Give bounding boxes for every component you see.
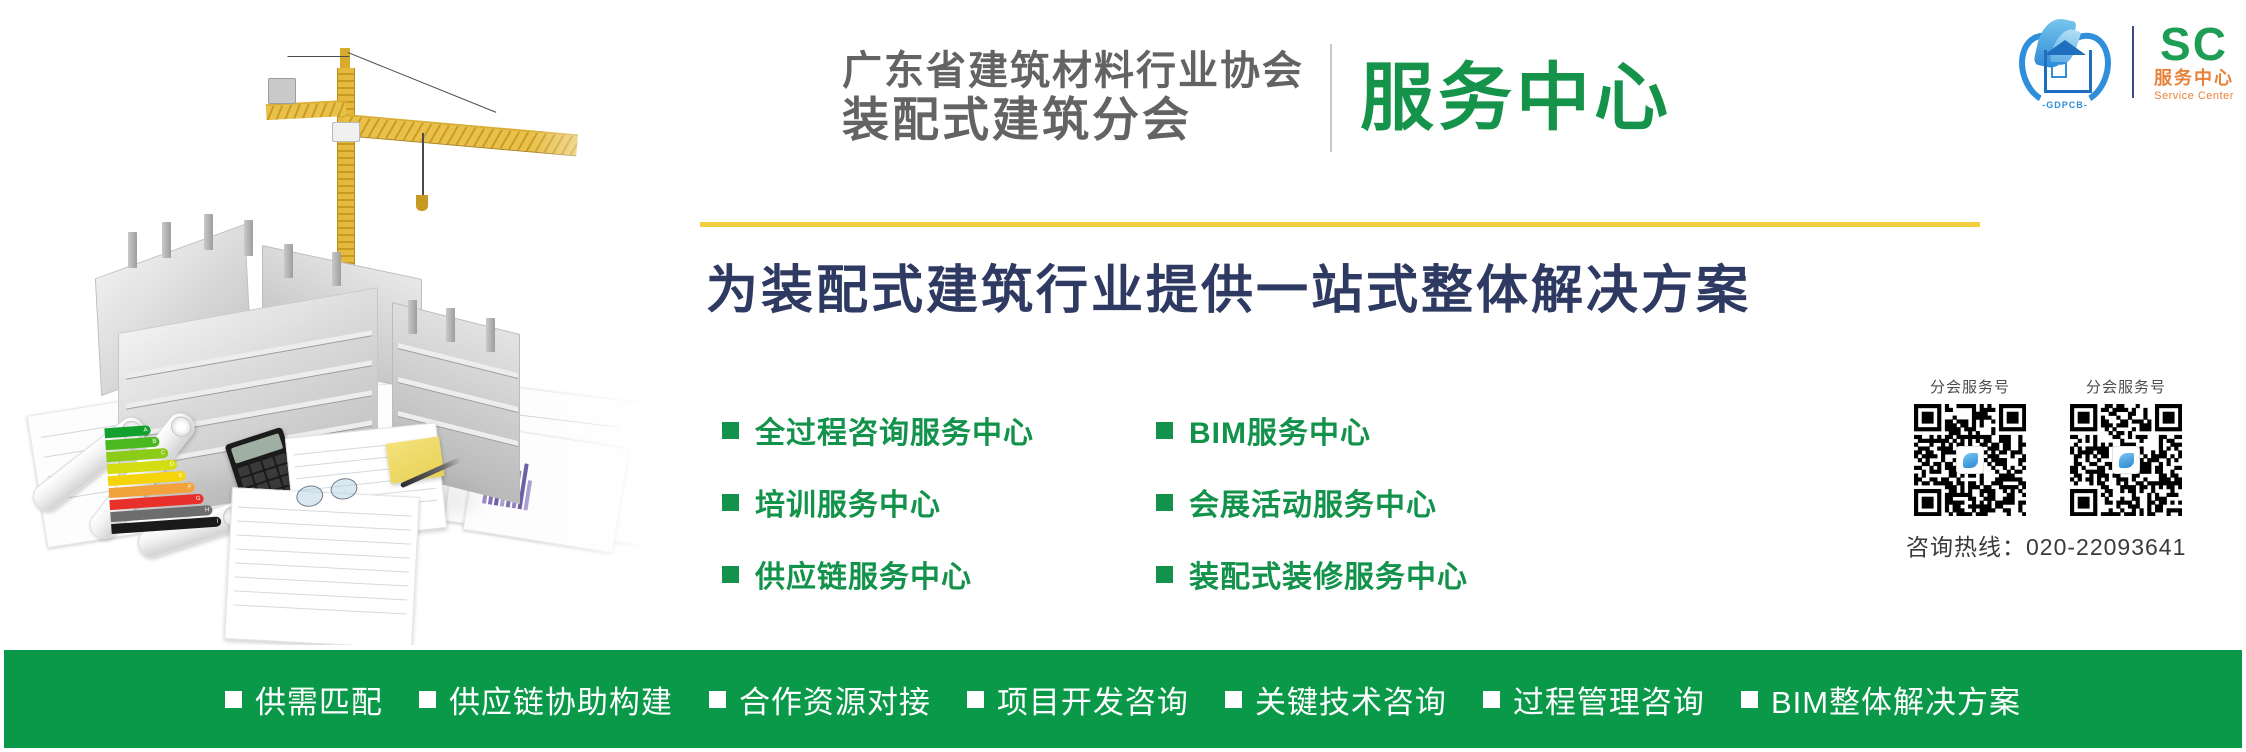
service-item-decoration[interactable]: 装配式装修服务中心 [1156, 552, 1468, 596]
footer-item-label: 项目开发咨询 [997, 677, 1189, 722]
footer-item-label: 关键技术咨询 [1255, 677, 1447, 722]
concrete-column [244, 220, 253, 256]
square-bullet-icon [1483, 691, 1500, 708]
footer-green-bar: 供需匹配 供应链协助构建 合作资源对接 项目开发咨询 关键技术咨询 过程管理咨询 [4, 650, 2242, 748]
service-item-exhibition[interactable]: 会展活动服务中心 [1156, 480, 1468, 524]
sc-letters: SC [2160, 21, 2228, 67]
crane-counterweight [268, 78, 296, 104]
service-item-label: 培训服务中心 [755, 480, 941, 524]
footer-item-label: 过程管理咨询 [1513, 677, 1705, 722]
service-item-bim[interactable]: BIM服务中心 [1156, 408, 1468, 452]
footer-item-project-development[interactable]: 项目开发咨询 [967, 677, 1189, 722]
energy-bar-a: A [104, 425, 151, 438]
qr-contact-block: 分会服务号 分会服务号 咨询热线：020-22093641 [1906, 376, 2226, 562]
concrete-column [162, 222, 171, 258]
logo-house-window [2051, 62, 2067, 78]
service-item-supply-chain[interactable]: 供应链服务中心 [722, 552, 1034, 596]
crane-operator-cab [332, 122, 360, 142]
qr-center-logo [2113, 447, 2139, 473]
sc-chinese-label: 服务中心 [2154, 67, 2234, 90]
crane-hoist-line [422, 133, 424, 197]
concrete-column [128, 232, 137, 268]
concrete-column [332, 252, 341, 286]
square-bullet-icon [1156, 422, 1173, 439]
qr-caption: 分会服务号 [2062, 376, 2190, 397]
footer-item-supply-demand[interactable]: 供需匹配 [225, 677, 383, 722]
qr-code-image-1[interactable] [1914, 404, 2026, 516]
qr-code-image-2[interactable] [2070, 404, 2182, 516]
logo-block[interactable]: -GDPCB- SC 服务中心 Service Center [2018, 14, 2234, 110]
construction-illustration: A B C D E F G H I [0, 0, 680, 645]
footer-item-key-technology[interactable]: 关键技术咨询 [1225, 677, 1447, 722]
service-item-consulting[interactable]: 全过程咨询服务中心 [722, 408, 1034, 452]
service-center-title: 服务中心 [1360, 61, 1672, 135]
square-bullet-icon [709, 691, 726, 708]
service-item-label: 供应链服务中心 [755, 552, 972, 596]
footer-item-supply-chain-build[interactable]: 供应链协助构建 [419, 677, 673, 722]
square-bullet-icon [1156, 494, 1173, 511]
logo-abbreviation: -GDPCB- [2018, 100, 2112, 110]
concrete-column [408, 300, 417, 334]
footer-item-resource-matching[interactable]: 合作资源对接 [709, 677, 931, 722]
banner-root: A B C D E F G H I [0, 0, 2246, 752]
square-bullet-icon [419, 691, 436, 708]
service-column-right: BIM服务中心 会展活动服务中心 装配式装修服务中心 [1156, 408, 1468, 596]
square-bullet-icon [722, 566, 739, 583]
qr-caption: 分会服务号 [1906, 376, 2034, 397]
qr-row: 分会服务号 分会服务号 [1906, 376, 2226, 516]
headline-divider [1330, 44, 1332, 152]
gdpcb-logo-icon: -GDPCB- [2018, 16, 2112, 108]
service-center-lists: 全过程咨询服务中心 培训服务中心 供应链服务中心 BIM服务中心 会展活动服务中… [722, 408, 1468, 596]
square-bullet-icon [225, 691, 242, 708]
energy-rating-chart: A B C D E F G H I [104, 420, 231, 536]
concrete-column [446, 308, 455, 342]
gold-divider-rule [700, 222, 1980, 227]
association-line-2: 装配式建筑分会 [842, 94, 1304, 147]
service-item-training[interactable]: 培训服务中心 [722, 480, 1034, 524]
square-bullet-icon [722, 422, 739, 439]
logo-divider [2132, 26, 2134, 98]
footer-item-process-management[interactable]: 过程管理咨询 [1483, 677, 1705, 722]
qr-cell-1[interactable]: 分会服务号 [1906, 376, 2034, 516]
service-item-label: BIM服务中心 [1189, 408, 1371, 452]
service-item-label: 会展活动服务中心 [1189, 480, 1437, 524]
association-name: 广东省建筑材料行业协会 装配式建筑分会 [842, 49, 1330, 146]
qr-center-logo [1957, 447, 1983, 473]
concrete-column [204, 214, 213, 250]
footer-item-label: BIM整体解决方案 [1771, 677, 2021, 722]
headline-block: 广东省建筑材料行业协会 装配式建筑分会 服务中心 [842, 44, 1672, 152]
square-bullet-icon [1156, 566, 1173, 583]
footer-item-bim-solution[interactable]: BIM整体解决方案 [1741, 677, 2021, 722]
sc-logo: SC 服务中心 Service Center [2154, 21, 2234, 103]
association-line-1: 广东省建筑材料行业协会 [842, 49, 1304, 94]
footer-item-label: 供应链协助构建 [449, 677, 673, 722]
square-bullet-icon [722, 494, 739, 511]
illustration-fade [530, 0, 680, 645]
service-item-label: 装配式装修服务中心 [1189, 552, 1468, 596]
hotline-text: 咨询热线：020-22093641 [1906, 528, 2226, 562]
square-bullet-icon [1225, 691, 1242, 708]
sc-english-label: Service Center [2154, 90, 2234, 103]
square-bullet-icon [967, 691, 984, 708]
service-column-left: 全过程咨询服务中心 培训服务中心 供应链服务中心 [722, 408, 1034, 596]
crane-hook [416, 195, 428, 211]
qr-cell-2[interactable]: 分会服务号 [2062, 376, 2190, 516]
concrete-column [284, 244, 293, 278]
concrete-column [486, 318, 495, 352]
service-item-label: 全过程咨询服务中心 [755, 408, 1034, 452]
main-slogan: 为装配式建筑行业提供一站式整体解决方案 [706, 248, 1751, 323]
footer-item-label: 合作资源对接 [739, 677, 931, 722]
application-form-front [224, 487, 420, 645]
footer-items: 供需匹配 供应链协助构建 合作资源对接 项目开发咨询 关键技术咨询 过程管理咨询 [225, 677, 2021, 722]
square-bullet-icon [1741, 691, 1758, 708]
footer-item-label: 供需匹配 [255, 677, 383, 722]
